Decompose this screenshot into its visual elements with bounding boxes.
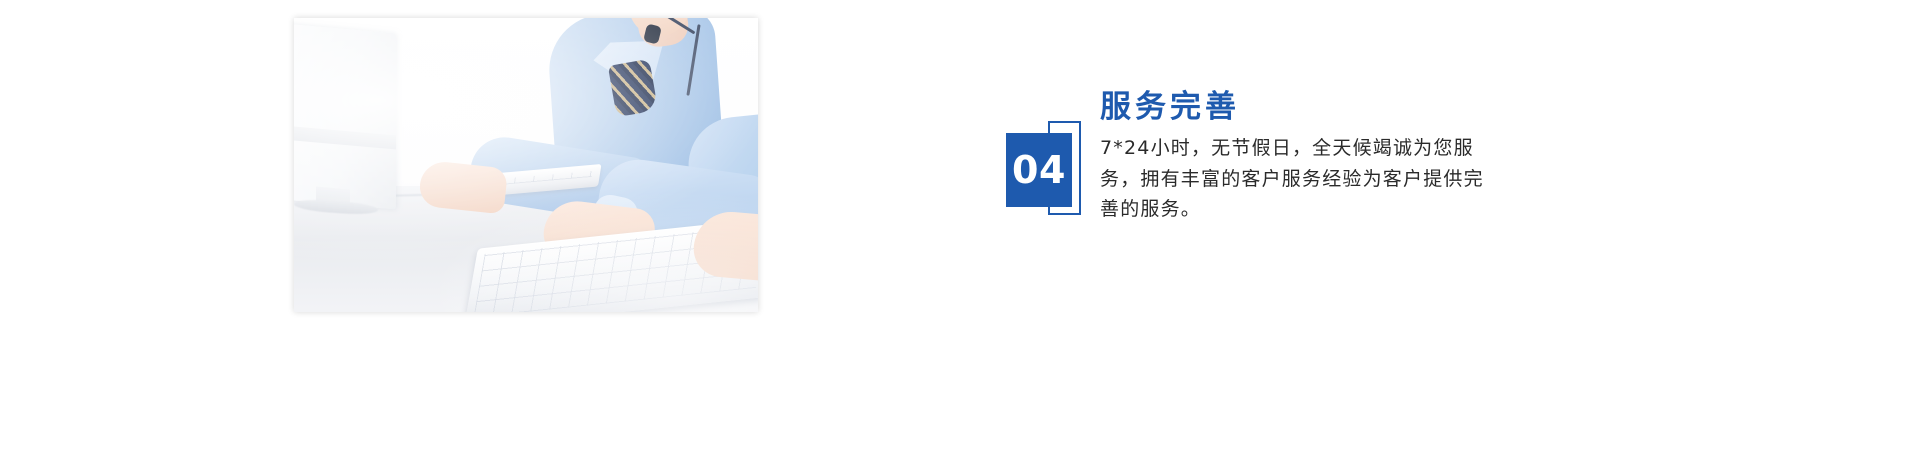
desktop-monitor-icon (294, 23, 396, 210)
badge-filled-square: 04 (1006, 133, 1072, 207)
feature-title: 服务完善 (1100, 88, 1500, 127)
step-number-badge: 04 (1004, 118, 1086, 218)
badge-number-label: 04 (1012, 151, 1066, 189)
feature-description: 7*24小时，无节假日，全天候竭诚为您服务，拥有丰富的客户服务经验为客户提供完善… (1100, 133, 1492, 225)
feature-text-column: 服务完善 7*24小时，无节假日，全天候竭诚为您服务，拥有丰富的客户服务经验为客… (1100, 88, 1500, 225)
photo-scene (294, 18, 758, 312)
feature-photo (294, 18, 758, 312)
promo-banner: 04 服务完善 7*24小时，无节假日，全天候竭诚为您服务，拥有丰富的客户服务经… (0, 0, 1920, 452)
